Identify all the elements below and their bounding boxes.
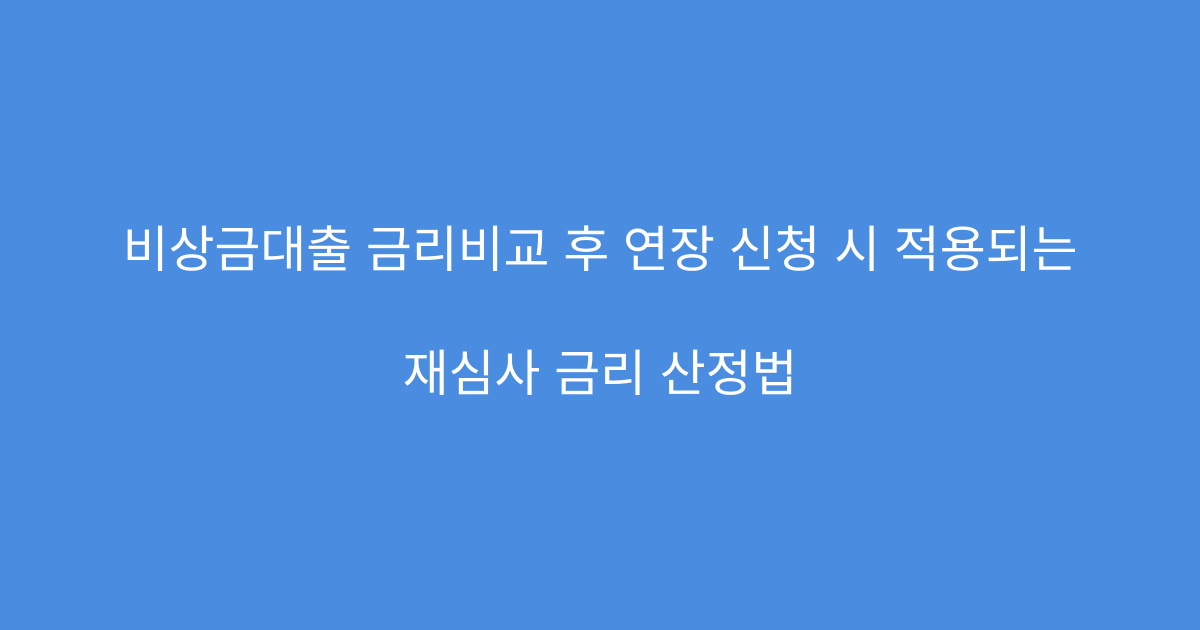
headline-line-1: 비상금대출 금리비교 후 연장 신청 시 적용되는 [70,219,1130,281]
headline-line-2: 재심사 금리 산정법 [70,343,1130,405]
headline-block: 비상금대출 금리비교 후 연장 신청 시 적용되는 재심사 금리 산정법 [70,157,1130,467]
page-title: 비상금대출 금리비교 후 연장 신청 시 적용되는 재심사 금리 산정법 [70,157,1130,467]
social-share-card: 비상금대출 금리비교 후 연장 신청 시 적용되는 재심사 금리 산정법 [0,0,1200,630]
